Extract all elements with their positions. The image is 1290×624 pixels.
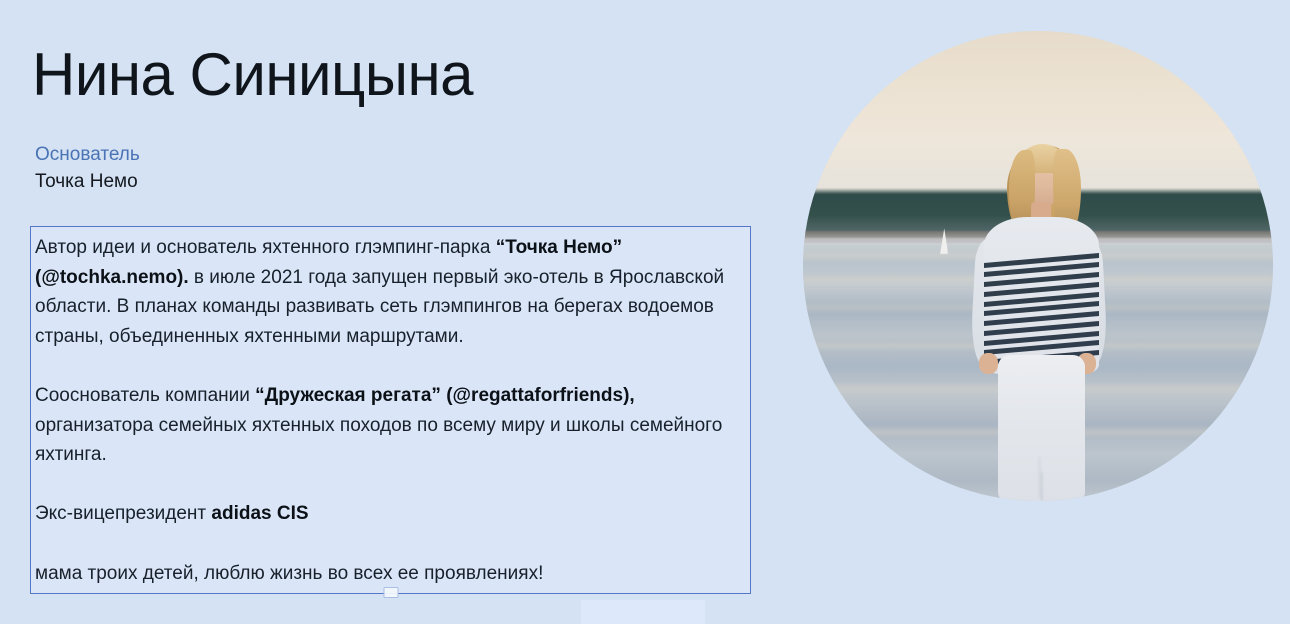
striped-sweater [984, 217, 1099, 374]
slide-canvas: Нина Синицына Основатель Точка Немо Авто… [0, 0, 1290, 624]
role-block: Основатель Точка Немо [35, 142, 455, 195]
bio-paragraph-spacer [35, 470, 740, 500]
white-trousers [998, 355, 1085, 501]
bio-text-bold: adidas CIS [211, 503, 308, 524]
bio-paragraph: Автор идеи и основатель яхтенного глэмпи… [35, 233, 740, 351]
bio-text-bold: “Дружеская регата” (@regattaforfriends), [255, 385, 635, 406]
bio-text: мама троих детей, люблю жизнь во всех ее… [35, 563, 543, 584]
bio-text: организатора семейных яхтенных походов п… [35, 415, 722, 466]
bio-paragraph: мама троих детей, люблю жизнь во всех ее… [35, 559, 740, 589]
bio-text: Экс-вицепрезидент [35, 503, 211, 524]
role-company: Точка Немо [35, 168, 455, 195]
bio-paragraph-spacer [35, 529, 740, 559]
photo-scene [803, 31, 1273, 501]
bio-text: Сооснователь компании [35, 385, 255, 406]
bio-textbox[interactable]: Автор идеи и основатель яхтенного глэмпи… [30, 226, 751, 594]
page-title: Нина Синицына [32, 38, 473, 112]
bio-text: Автор идеи и основатель яхтенного глэмпи… [35, 237, 496, 258]
bottom-panel-strip [581, 600, 705, 624]
hand-left [979, 353, 998, 374]
bio-paragraph-spacer [35, 351, 740, 381]
resize-handle-bottom[interactable] [383, 587, 398, 598]
portrait-photo [803, 31, 1273, 501]
bio-paragraph: Сооснователь компании “Дружеская регата”… [35, 381, 740, 470]
role-position: Основатель [35, 142, 455, 168]
person-figure [803, 31, 1273, 501]
bio-paragraph: Экс-вицепрезидент adidas CIS [35, 499, 740, 529]
